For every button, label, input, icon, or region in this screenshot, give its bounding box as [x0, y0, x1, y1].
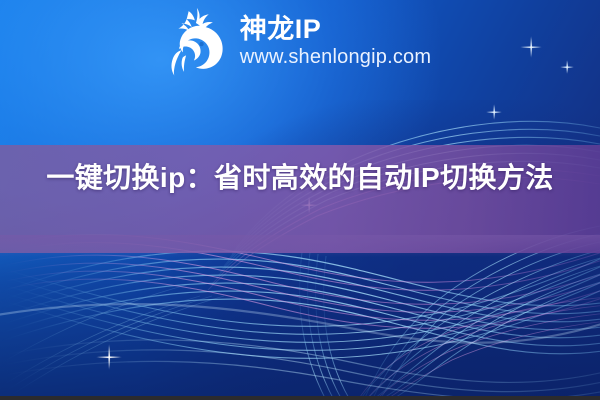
headline-band-fade: [0, 235, 600, 257]
bottom-edge: [0, 396, 600, 400]
brand-text: 神龙IP www.shenlongip.com: [240, 13, 431, 70]
banner-image: 神龙IP www.shenlongip.com 一键切换ip：省时高效的自动IP…: [0, 0, 600, 400]
brand-logo: 神龙IP www.shenlongip.com: [0, 6, 600, 76]
brand-name: 神龙IP: [240, 15, 431, 44]
page-title: 一键切换ip：省时高效的自动IP切换方法: [24, 158, 576, 198]
brand-url: www.shenlongip.com: [240, 45, 431, 69]
dragon-head-icon: [169, 6, 231, 76]
